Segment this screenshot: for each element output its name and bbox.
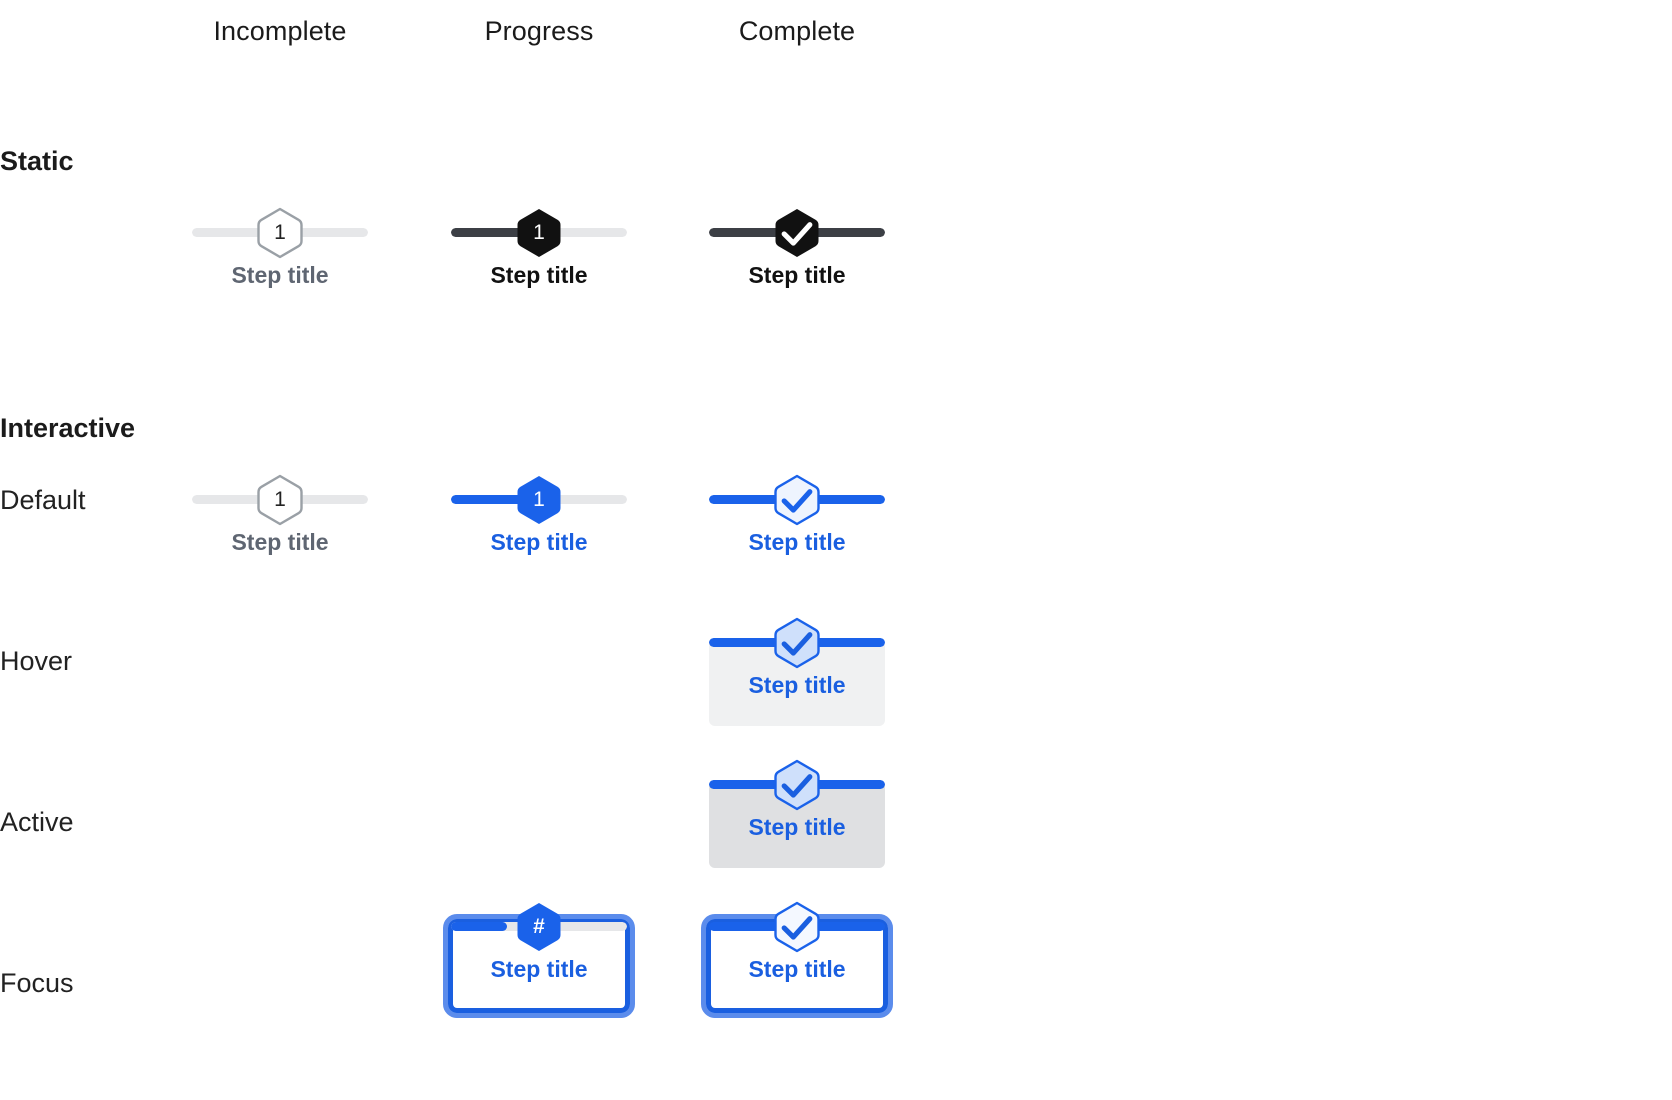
step-marker-hexagon [775, 208, 819, 258]
row-label-active: Active [0, 807, 74, 838]
step-title[interactable]: Step title [192, 262, 368, 289]
step-hover-complete[interactable]: Step title [709, 618, 885, 726]
row-label-hover: Hover [0, 646, 72, 677]
step-static-progress: 1Step title [451, 208, 627, 316]
step-marker-hexagon[interactable]: 1 [258, 475, 302, 525]
step-title[interactable]: Step title [709, 814, 885, 841]
step-title[interactable]: Step title [451, 529, 627, 556]
step-marker-hexagon[interactable] [775, 902, 819, 952]
step-title[interactable]: Step title [709, 262, 885, 289]
step-default-complete[interactable]: Step title [709, 475, 885, 583]
step-title[interactable]: Step title [192, 529, 368, 556]
stepper-specimen-sheet: Incomplete Progress Complete Static Inte… [0, 0, 1672, 1100]
step-marker-hexagon[interactable] [775, 618, 819, 668]
step-default-incomplete[interactable]: 1Step title [192, 475, 368, 583]
step-track-fill [451, 922, 507, 931]
step-static-complete: Step title [709, 208, 885, 316]
step-title[interactable]: Step title [709, 529, 885, 556]
step-marker-hexagon: 1 [258, 208, 302, 258]
step-marker-hexagon[interactable] [775, 760, 819, 810]
column-header-complete: Complete [709, 16, 885, 47]
step-marker-hexagon[interactable]: # [517, 902, 561, 952]
step-title[interactable]: Step title [451, 956, 627, 983]
step-marker-hexagon: 1 [517, 208, 561, 258]
column-header-progress: Progress [451, 16, 627, 47]
row-label-focus: Focus [0, 968, 74, 999]
step-title[interactable]: Step title [709, 956, 885, 983]
step-focus-progress[interactable]: #Step title [451, 902, 627, 1010]
section-header-interactive: Interactive [0, 413, 135, 444]
step-active-complete[interactable]: Step title [709, 760, 885, 868]
row-label-default: Default [0, 485, 86, 516]
section-header-static: Static [0, 146, 74, 177]
step-title[interactable]: Step title [451, 262, 627, 289]
step-title[interactable]: Step title [709, 672, 885, 699]
step-marker-hexagon[interactable] [775, 475, 819, 525]
step-marker-hexagon[interactable]: 1 [517, 475, 561, 525]
step-focus-complete[interactable]: Step title [709, 902, 885, 1010]
step-static-incomplete: 1Step title [192, 208, 368, 316]
column-header-incomplete: Incomplete [192, 16, 368, 47]
step-default-progress[interactable]: 1Step title [451, 475, 627, 583]
